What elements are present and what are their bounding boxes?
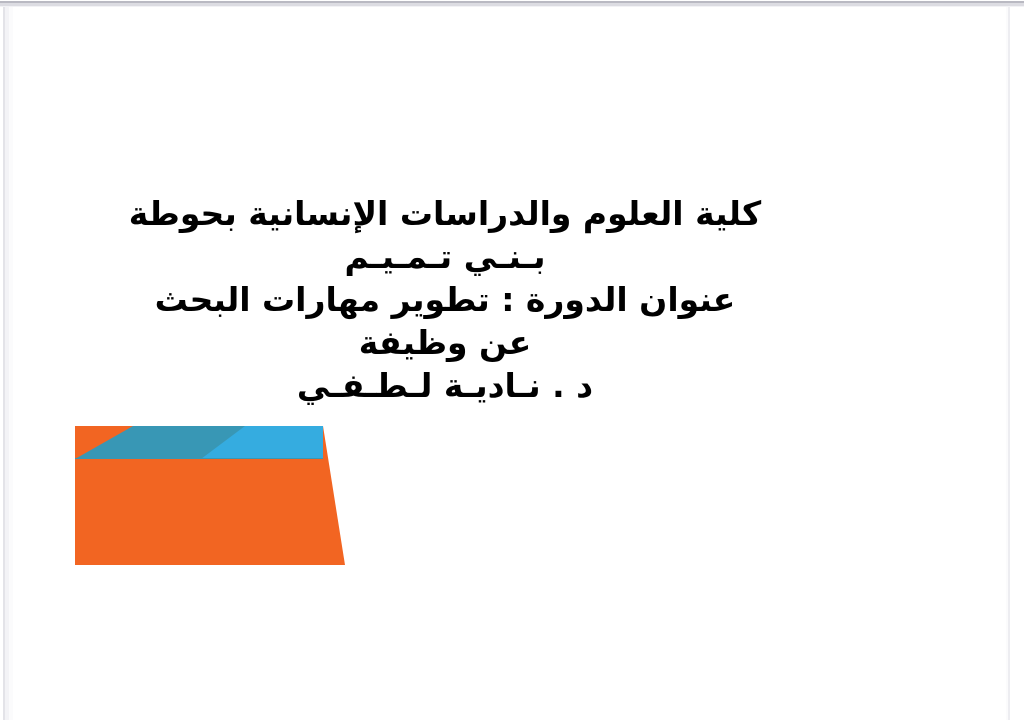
title-line-5: د . نـاديـة لـطـفـي bbox=[105, 365, 785, 408]
title-line-2: بـنـي تـمـيـم bbox=[105, 236, 785, 279]
title-line-1: كلية العلوم والدراسات الإنسانية بحوطة bbox=[105, 193, 785, 236]
viewer-right-edge bbox=[1006, 7, 1024, 720]
slide-canvas: كلية العلوم والدراسات الإنسانية بحوطة بـ… bbox=[13, 7, 1006, 720]
viewer-left-edge bbox=[0, 7, 13, 720]
title-line-4: عن وظيفة bbox=[105, 322, 785, 365]
teal-band-shape bbox=[75, 458, 323, 459]
document-viewer: كلية العلوم والدراسات الإنسانية بحوطة بـ… bbox=[0, 0, 1024, 720]
viewer-top-edge bbox=[0, 0, 1024, 7]
slide-title-block: كلية العلوم والدراسات الإنسانية بحوطة بـ… bbox=[105, 193, 785, 407]
banner-shape-graphic bbox=[53, 412, 383, 577]
title-line-3: عنوان الدورة : تطوير مهارات البحث bbox=[105, 279, 785, 322]
